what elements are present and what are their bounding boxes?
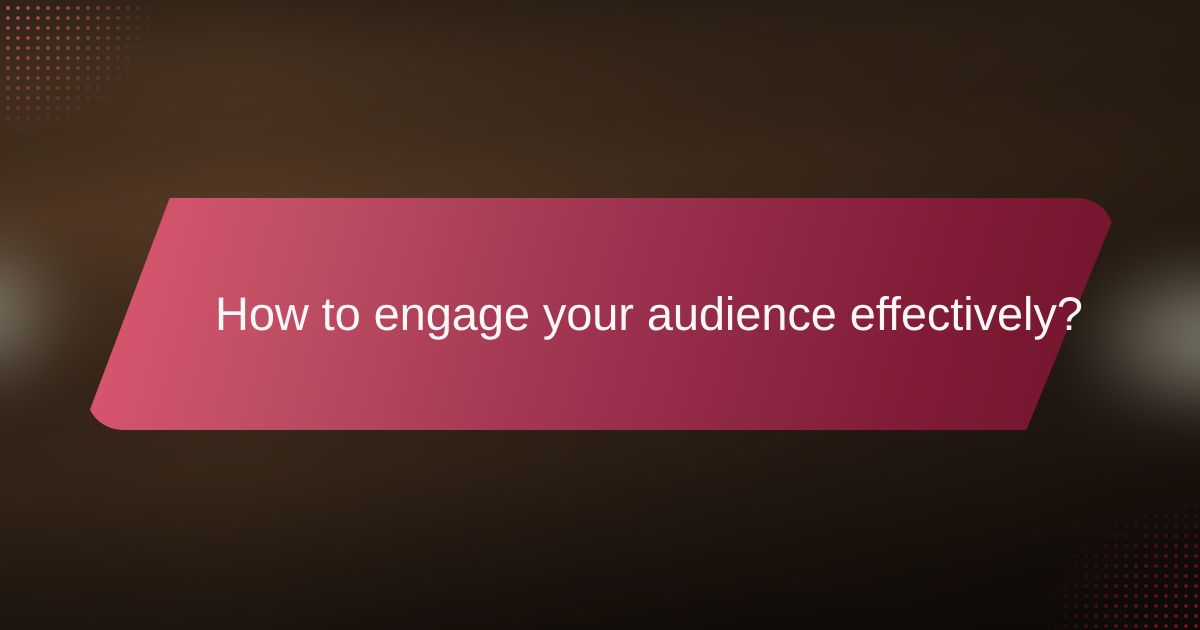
- quote-text: How to engage your audience effectively?: [215, 288, 1083, 341]
- quote-banner: How to engage your audience effectively?: [100, 198, 1100, 430]
- quote-banner-content: How to engage your audience effectively?: [100, 198, 1100, 430]
- quote-card-canvas: How to engage your audience effectively?: [0, 0, 1200, 630]
